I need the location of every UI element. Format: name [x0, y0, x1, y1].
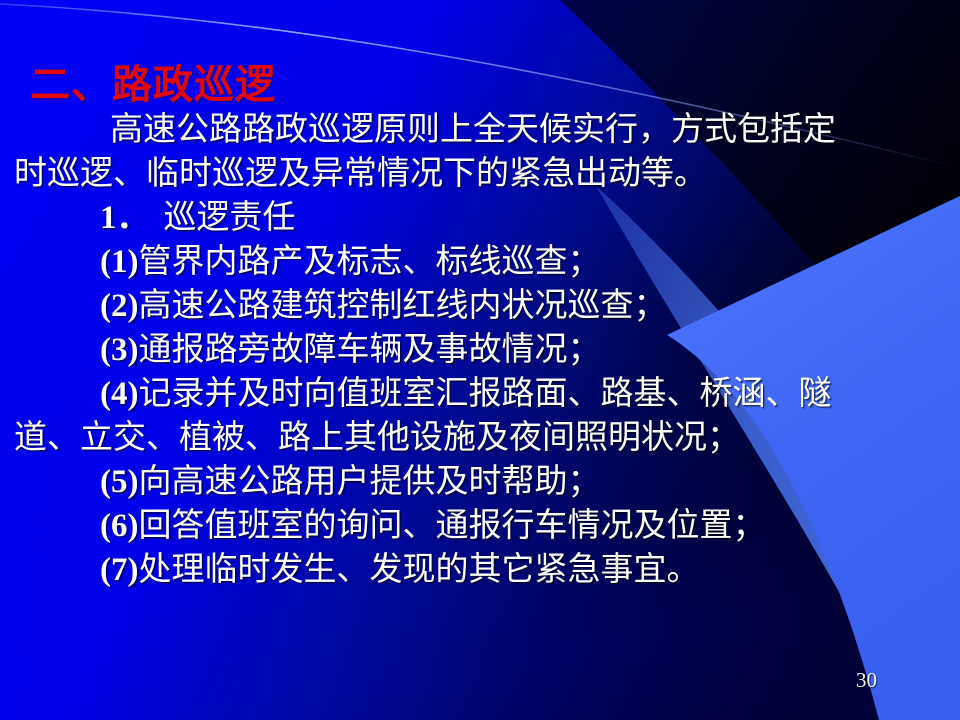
list-item-7-text: 处理临时发生、发现的其它紧急事宜。 [138, 552, 699, 588]
list-item-3: (3)通报路旁故障车辆及事故情况； [14, 328, 946, 372]
list-item-1: (1)管界内路产及标志、标线巡查； [14, 240, 946, 284]
list-item-4: (4)记录并及时向值班室汇报路面、路基、桥涵、隧 [14, 372, 946, 416]
page-number: 30 [856, 668, 877, 693]
list-item-5: (5)向高速公路用户提供及时帮助； [14, 460, 946, 504]
list-item-4-marker: (4) [100, 376, 138, 412]
list-item-5-marker: (5) [100, 464, 138, 500]
list-item-7-marker: (7) [100, 552, 138, 588]
list-item-6-marker: (6) [100, 508, 138, 544]
list-item-5-text: 向高速公路用户提供及时帮助； [138, 464, 600, 500]
list-item-4-continuation: 道、立交、植被、路上其他设施及夜间照明状况； [14, 416, 946, 460]
list-item-1-text: 管界内路产及标志、标线巡查； [138, 244, 600, 280]
list-item-2: (2)高速公路建筑控制红线内状况巡查； [14, 284, 946, 328]
section-number: 1． [100, 200, 150, 236]
list-item-3-text: 通报路旁故障车辆及事故情况； [138, 332, 600, 368]
list-item-7: (7)处理临时发生、发现的其它紧急事宜。 [14, 548, 946, 592]
list-item-3-marker: (3) [100, 332, 138, 368]
section-title: 巡逻责任 [164, 200, 296, 236]
slide-canvas: 二、路政巡逻 高速公路路政巡逻原则上全天候实行，方式包括定 时巡逻、临时巡逻及异… [0, 0, 960, 720]
list-item-1-marker: (1) [100, 244, 138, 280]
list-item-6: (6)回答值班室的询问、通报行车情况及位置； [14, 504, 946, 548]
section-heading: 1．巡逻责任 [14, 196, 946, 240]
slide-content: 二、路政巡逻 高速公路路政巡逻原则上全天候实行，方式包括定 时巡逻、临时巡逻及异… [0, 0, 960, 720]
list-item-4-text: 记录并及时向值班室汇报路面、路基、桥涵、隧 [138, 376, 831, 412]
list-item-2-text: 高速公路建筑控制红线内状况巡查； [138, 288, 666, 324]
list-item-2-marker: (2) [100, 288, 138, 324]
body-text: 高速公路路政巡逻原则上全天候实行，方式包括定 时巡逻、临时巡逻及异常情况下的紧急… [14, 108, 946, 592]
paragraph-line-2: 时巡逻、临时巡逻及异常情况下的紧急出动等。 [14, 152, 946, 196]
paragraph-line-1: 高速公路路政巡逻原则上全天候实行，方式包括定 [14, 108, 946, 152]
page-title: 二、路政巡逻 [30, 52, 276, 110]
list-item-6-text: 回答值班室的询问、通报行车情况及位置； [138, 508, 765, 544]
